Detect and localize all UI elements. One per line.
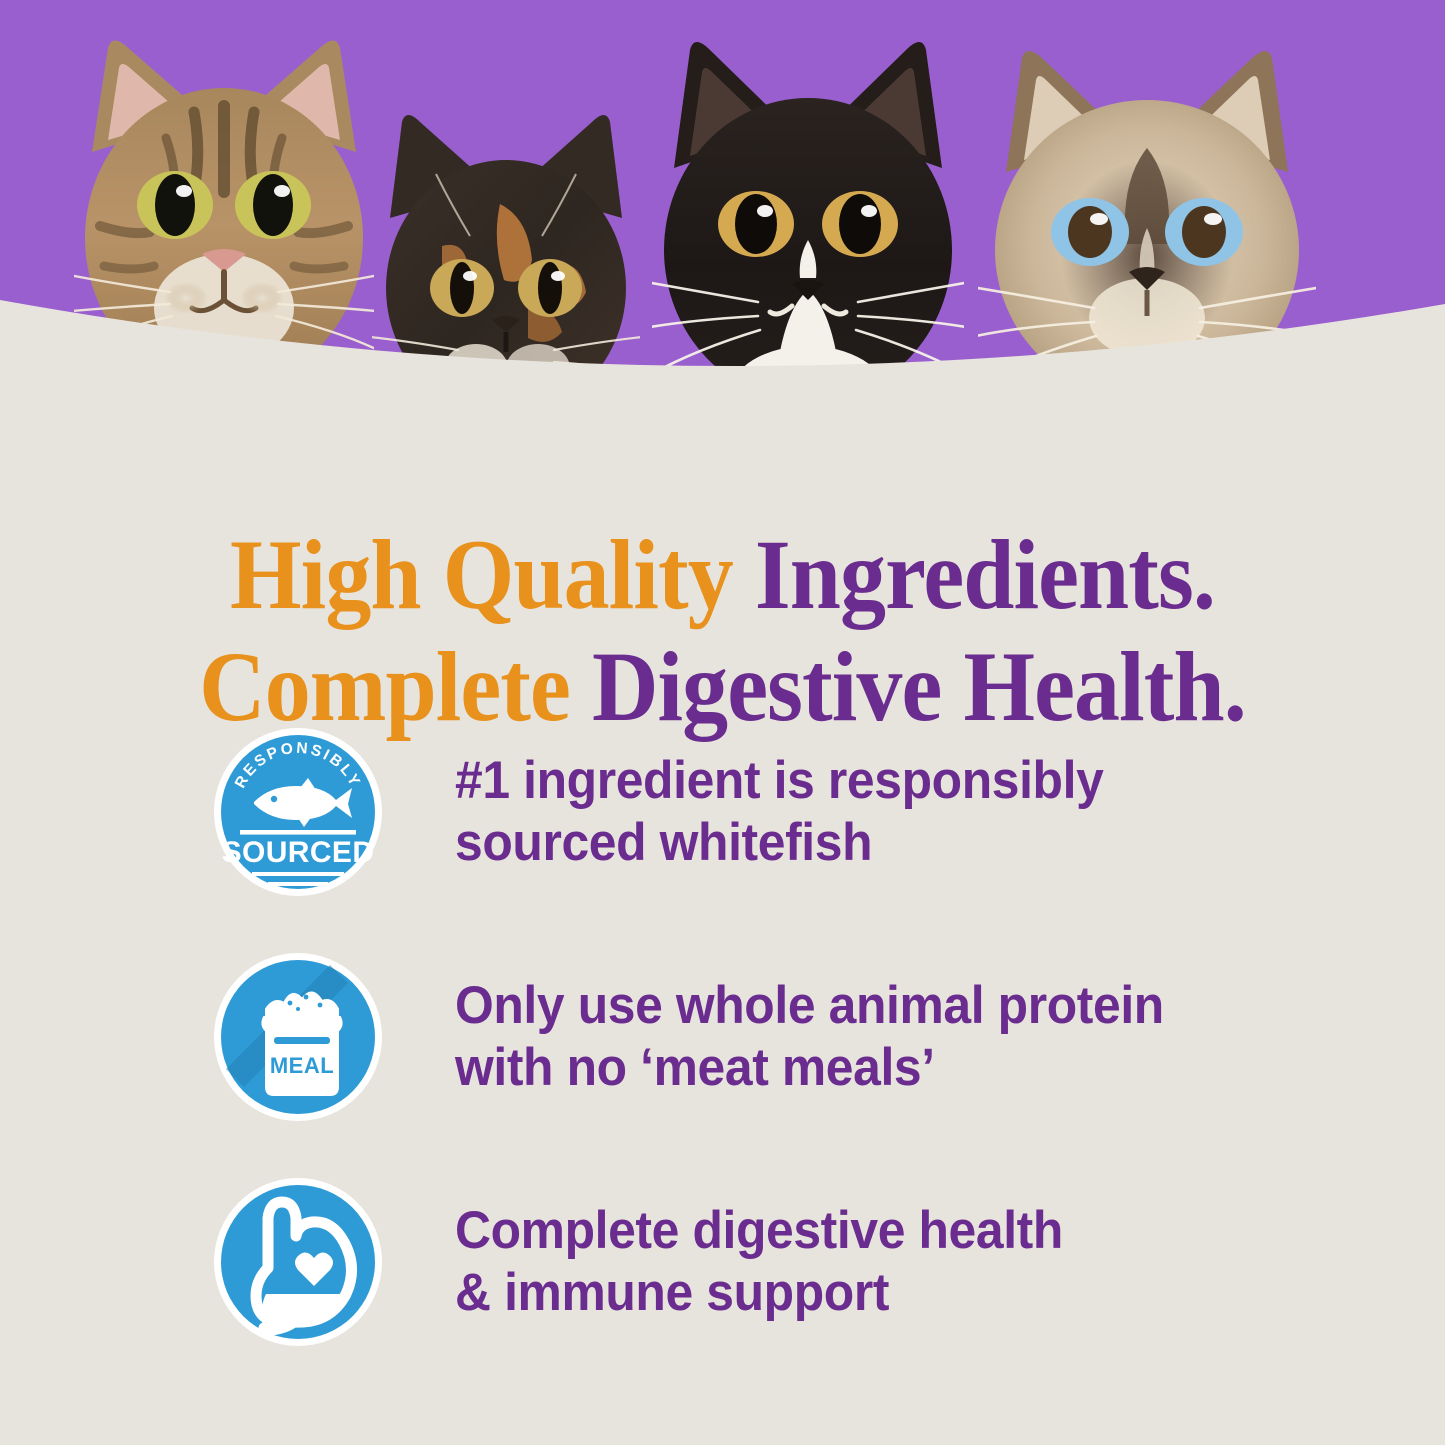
feature-text-digestive-health: Complete digestive health & immune suppo…	[455, 1200, 1272, 1324]
headline-line-1: High Quality Ingredients.	[58, 519, 1387, 631]
product-feature-infographic: High Quality Ingredients. Complete Diges…	[0, 0, 1445, 1445]
feature-2-line-1: Only use whole animal protein	[455, 975, 1223, 1037]
ragdoll-cat	[978, 32, 1316, 410]
page-headline: High Quality Ingredients. Complete Diges…	[0, 519, 1445, 743]
no-meat-meal-bag-icon: MEAL	[212, 951, 384, 1123]
feature-1-line-1: #1 ingredient is responsibly	[455, 750, 1223, 812]
feature-list: RESPONSIBLY SOURCED #1 ingredi	[212, 726, 1272, 1348]
hero-cat-banner	[0, 0, 1445, 420]
feature-text-responsibly-sourced: #1 ingredient is responsibly sourced whi…	[455, 750, 1272, 874]
brown-tabby-cat	[74, 20, 374, 392]
badge-main-text: SOURCED	[222, 836, 375, 869]
feature-2-line-2: with no ‘meat meals’	[455, 1037, 1223, 1099]
responsibly-sourced-fish-badge-icon: RESPONSIBLY SOURCED	[212, 726, 384, 898]
feature-item-no-meat-meals: MEAL Only use whole animal protein with …	[212, 951, 1272, 1123]
bag-label-text: MEAL	[270, 1053, 334, 1078]
headline-line1-purple: Ingredients.	[755, 519, 1215, 630]
headline-line1-orange: High Quality	[230, 519, 755, 630]
tortoiseshell-kitten	[372, 100, 640, 400]
feature-item-digestive-health: Complete digestive health & immune suppo…	[212, 1176, 1272, 1348]
feature-item-responsibly-sourced: RESPONSIBLY SOURCED #1 ingredi	[212, 726, 1272, 898]
feature-text-no-meat-meals: Only use whole animal protein with no ‘m…	[455, 975, 1272, 1099]
tuxedo-cat	[652, 28, 964, 420]
feature-3-line-2: & immune support	[455, 1262, 1223, 1324]
stomach-heart-digestive-health-icon	[212, 1176, 384, 1348]
feature-3-line-1: Complete digestive health	[455, 1200, 1223, 1262]
feature-1-line-2: sourced whitefish	[455, 812, 1223, 874]
